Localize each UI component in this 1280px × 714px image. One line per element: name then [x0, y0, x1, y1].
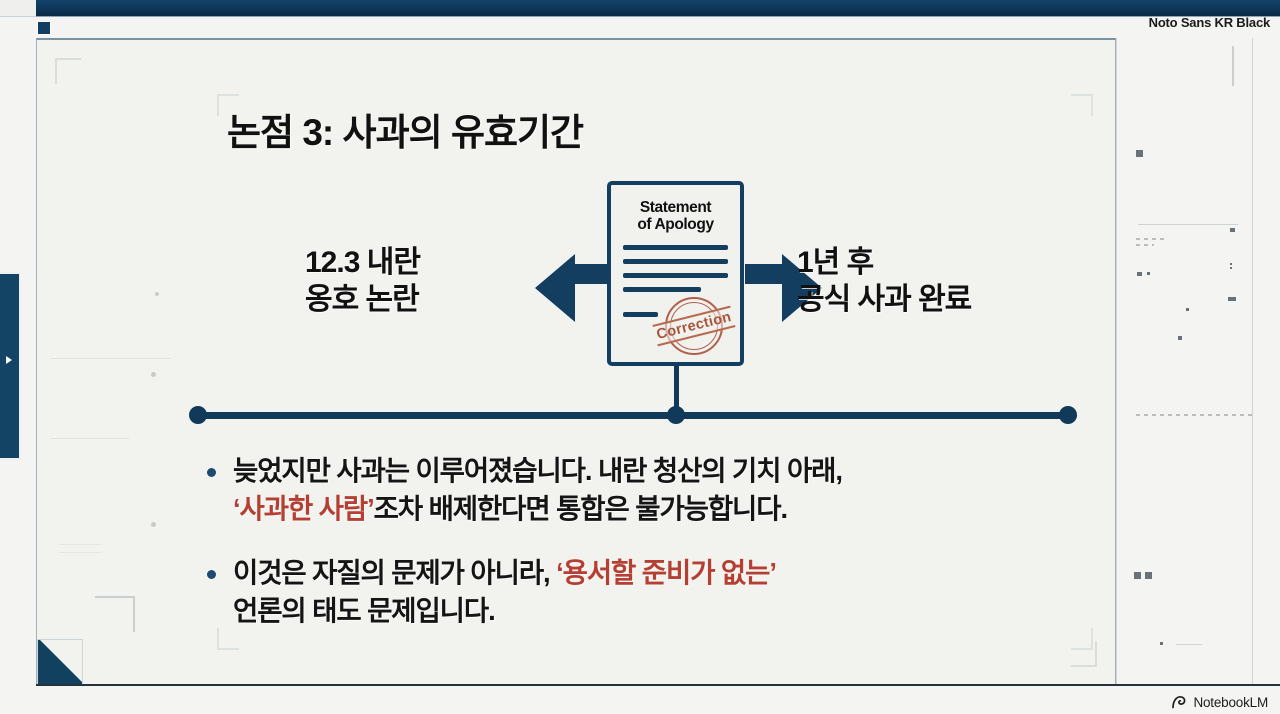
- bullet-2-post: 언론의 태도 문제입니다.: [233, 595, 495, 626]
- decor-dot-b: [151, 522, 156, 527]
- bullet-2-highlight: ‘용서할 준비가 없는’: [556, 557, 776, 591]
- bullet-1-post: 조차 배제한다면 통합은 불가능합니다.: [374, 493, 787, 524]
- notebooklm-brand: NotebookLM: [1171, 695, 1268, 710]
- decor-guide-line-left-3: [59, 544, 101, 545]
- timeline-axis: [197, 412, 1077, 419]
- decor-line-2: [1176, 644, 1202, 645]
- list-item: 이것은 자질의 문제가 아니라, ‘용서할 준비가 없는’ 언론의 태도 문제입…: [199, 554, 1079, 630]
- decor-guide-line-left-2: [51, 438, 129, 439]
- decor-mark-4: [1230, 267, 1232, 269]
- slide-canvas: 논점 3: 사과의 유효기간 12.3 내란 옹호 논란: [37, 40, 1115, 685]
- decor-mark-11: [1145, 572, 1152, 579]
- timeline-left-label-line2: 옹호 논란: [305, 281, 420, 318]
- decor-guide-line-left-4: [59, 552, 101, 553]
- header-left-gap: [0, 0, 36, 17]
- timeline-node-middle: [667, 406, 685, 424]
- content-bracket-top-right: [1071, 94, 1093, 116]
- decor-bracket-arc: [95, 596, 135, 632]
- chevron-right-icon: [6, 356, 12, 364]
- list-item: 늦었지만 사과는 이루어졌습니다. 내란 청산의 기치 아래, ‘사과한 사람’…: [199, 452, 1079, 528]
- decor-bracket-top-left: [55, 58, 81, 84]
- bullet-list: 늦었지만 사과는 이루어졌습니다. 내란 청산의 기치 아래, ‘사과한 사람’…: [199, 452, 1079, 656]
- decor-vline-3: [1232, 46, 1234, 86]
- decor-dot-a: [151, 372, 156, 377]
- timeline-right-label: 1년 후 공식 사과 완료: [797, 244, 971, 318]
- slide-viewer: Noto Sans KR Black: [0, 0, 1280, 714]
- timeline-left-label-line1: 12.3 내란: [305, 244, 420, 281]
- slide-page[interactable]: 논점 3: 사과의 유효기간 12.3 내란 옹호 논란: [36, 38, 1116, 686]
- timeline-diagram: 12.3 내란 옹호 논란 Statement of Apology: [187, 176, 1077, 446]
- decor-mark-6: [1147, 272, 1150, 275]
- decor-dotted-3: [1136, 414, 1252, 416]
- sidebar-expand-tab[interactable]: [0, 272, 21, 460]
- bullet-2-pre: 이것은 자질의 문제가 아니라,: [233, 557, 556, 588]
- right-margin-decor: [1116, 38, 1280, 686]
- arrow-left-bar: [575, 264, 609, 284]
- bullet-dot-icon: [207, 468, 216, 477]
- timeline-node-end: [1059, 406, 1077, 424]
- decor-corner-triangle: [37, 639, 83, 685]
- timeline-right-label-line1: 1년 후: [797, 244, 971, 281]
- decor-mark-3: [1230, 263, 1232, 265]
- bullet-1-highlight: ‘사과한 사람’: [233, 493, 374, 527]
- decor-dot-c: [155, 292, 159, 296]
- decor-mark-8: [1186, 308, 1189, 311]
- decor-mark-7: [1228, 297, 1236, 301]
- page-title: 논점 3: 사과의 유효기간: [227, 102, 583, 156]
- notebooklm-brand-label: NotebookLM: [1193, 695, 1268, 710]
- bullet-dot-icon: [207, 570, 216, 579]
- footer-rule: [36, 684, 1280, 686]
- decor-dotted-2: [1136, 244, 1154, 246]
- notebooklm-spiral-icon: [1171, 695, 1188, 710]
- decor-line-1: [1138, 224, 1238, 225]
- decor-mark-9: [1178, 336, 1182, 340]
- apology-document-card: Statement of Apology: [607, 181, 744, 366]
- bullet-1-pre: 늦었지만 사과는 이루어졌습니다. 내란 청산의 기치 아래,: [233, 455, 842, 486]
- window-header-strip: [36, 0, 1280, 17]
- decor-mark-5: [1137, 272, 1142, 276]
- timeline-left-label: 12.3 내란 옹호 논란: [305, 244, 420, 318]
- correction-stamp-icon: Correction: [659, 291, 729, 361]
- arrow-left-icon: [535, 254, 575, 322]
- decor-dotted-1: [1136, 238, 1166, 240]
- slide-content: 논점 3: 사과의 유효기간 12.3 내란 옹호 논란: [187, 66, 1077, 666]
- timeline-node-start: [189, 406, 207, 424]
- decor-mark-1: [1136, 150, 1143, 157]
- decor-mark-12: [1160, 642, 1163, 645]
- document-title-line2: of Apology: [623, 216, 728, 233]
- arrow-right-bar: [745, 264, 783, 284]
- decor-mark-2: [1230, 228, 1235, 232]
- timeline-right-label-line2: 공식 사과 완료: [797, 281, 971, 318]
- decor-guide-line-left: [51, 358, 171, 359]
- document-title: Statement of Apology: [623, 199, 728, 234]
- decor-vline-1: [1116, 38, 1117, 686]
- slide-corner-marker: [37, 21, 51, 35]
- decor-mark-10: [1134, 572, 1141, 579]
- decor-vline-2: [1252, 38, 1253, 686]
- font-name-label: Noto Sans KR Black: [1149, 15, 1270, 30]
- document-title-line1: Statement: [623, 199, 728, 216]
